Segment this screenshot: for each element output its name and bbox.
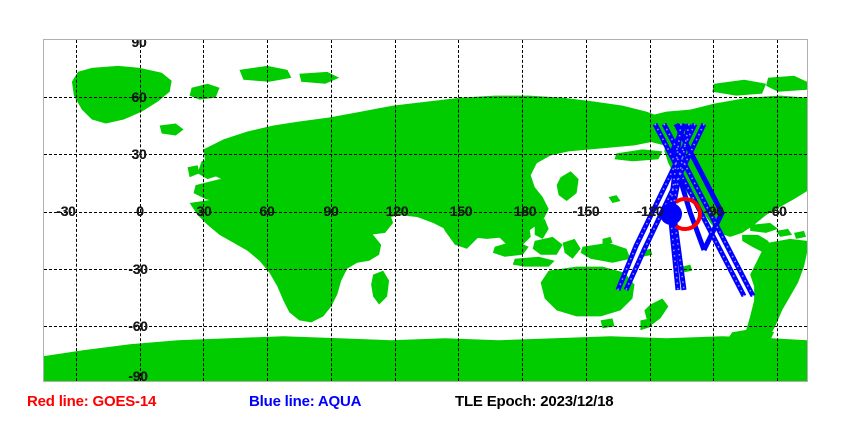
world-map-plot: -30 0 30 60 90 120 150 180 -150 -120 -90… (43, 39, 808, 382)
lon-tick-label--120: -120 (637, 204, 664, 218)
lat-tick-label--60: -60 (128, 319, 147, 333)
lat-tick-label--90: -90 (128, 369, 147, 382)
lat-tick-label--30: -30 (128, 262, 147, 276)
legend-red-line-goes14: Red line: GOES-14 (27, 392, 156, 412)
satellite-tracks-svg (44, 40, 808, 382)
lon-tick-label-90: 90 (324, 204, 339, 218)
lat-tick-label-30: 30 (132, 147, 147, 161)
lon-tick-label-180: 180 (514, 204, 536, 218)
lon-tick-label-60: 60 (260, 204, 275, 218)
legend-tle-epoch: TLE Epoch: 2023/12/18 (455, 392, 613, 412)
lon-tick-label--60: -60 (767, 204, 786, 218)
figure-legend: Red line: GOES-14 Blue line: AQUA TLE Ep… (0, 392, 850, 425)
lon-tick-label--30: -30 (56, 204, 75, 218)
lat-tick-label-60: 60 (132, 90, 147, 104)
lat-tick-label-0: 0 (136, 204, 144, 218)
satellite-ground-track-figure: -30 0 30 60 90 120 150 180 -150 -120 -90… (0, 0, 850, 425)
legend-blue-line-aqua: Blue line: AQUA (249, 392, 361, 412)
lon-tick-label-150: 150 (450, 204, 472, 218)
lon-tick-label-120: 120 (386, 204, 408, 218)
lat-tick-label-90: 90 (132, 39, 147, 49)
lon-tick-label-30: 30 (197, 204, 212, 218)
lon-tick-label--150: -150 (573, 204, 600, 218)
lon-tick-label--90: -90 (704, 204, 723, 218)
